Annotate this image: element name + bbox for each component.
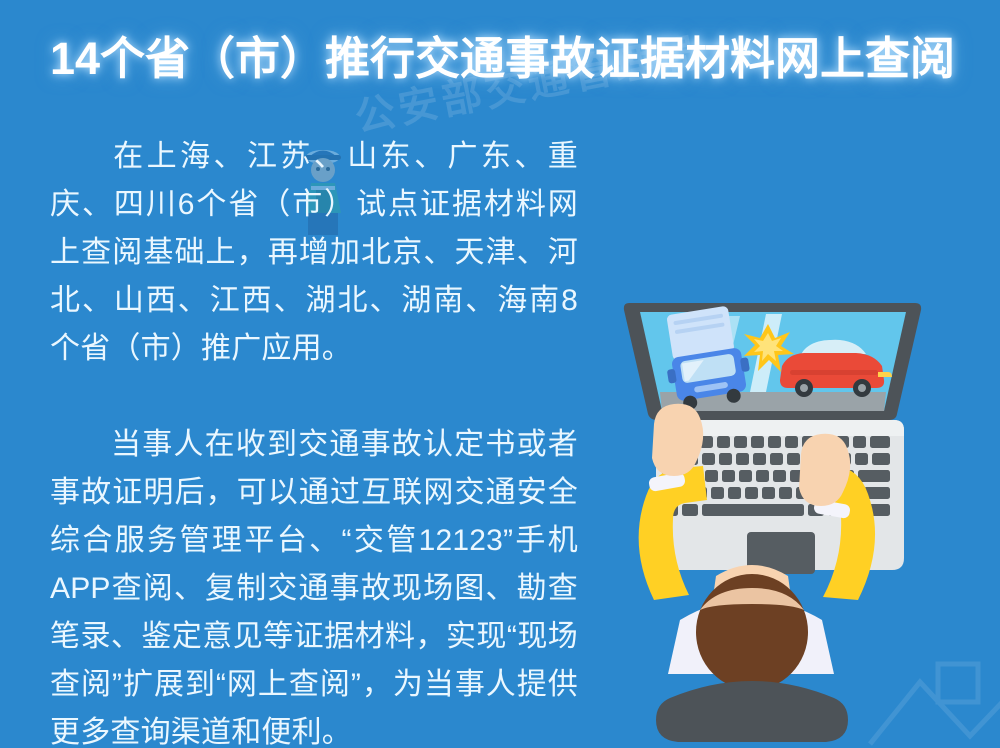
- paragraph-one-text: 在上海、江苏、山东、广东、重庆、四川6个省（市）试点证据材料网上查阅基础上，再增…: [50, 140, 578, 365]
- illustration-person-at-laptop: [600, 186, 1000, 748]
- illustration-svg: [600, 186, 1000, 748]
- poster-canvas: 公安部交通管理局 14个省（市）推行交通事故证据材料网上查阅 在上海、江苏、山东…: [0, 0, 1000, 748]
- laptop-screen: [624, 303, 921, 420]
- body-copy: 在上海、江苏、山东、广东、重庆、四川6个省（市）试点证据材料网上查阅基础上，再增…: [50, 133, 578, 748]
- page-title: 14个省（市）推行交通事故证据材料网上查阅: [50, 34, 950, 84]
- paragraph-two-text: 当事人在收到交通事故认定书或者事故证明后，可以通过互联网交通安全综合服务管理平台…: [50, 428, 578, 748]
- chair-back: [656, 681, 848, 742]
- paragraph-two: 当事人在收到交通事故认定书或者事故证明后，可以通过互联网交通安全综合服务管理平台…: [50, 421, 578, 748]
- paragraph-one: 在上海、江苏、山东、广东、重庆、四川6个省（市）试点证据材料网上查阅基础上，再增…: [50, 133, 578, 373]
